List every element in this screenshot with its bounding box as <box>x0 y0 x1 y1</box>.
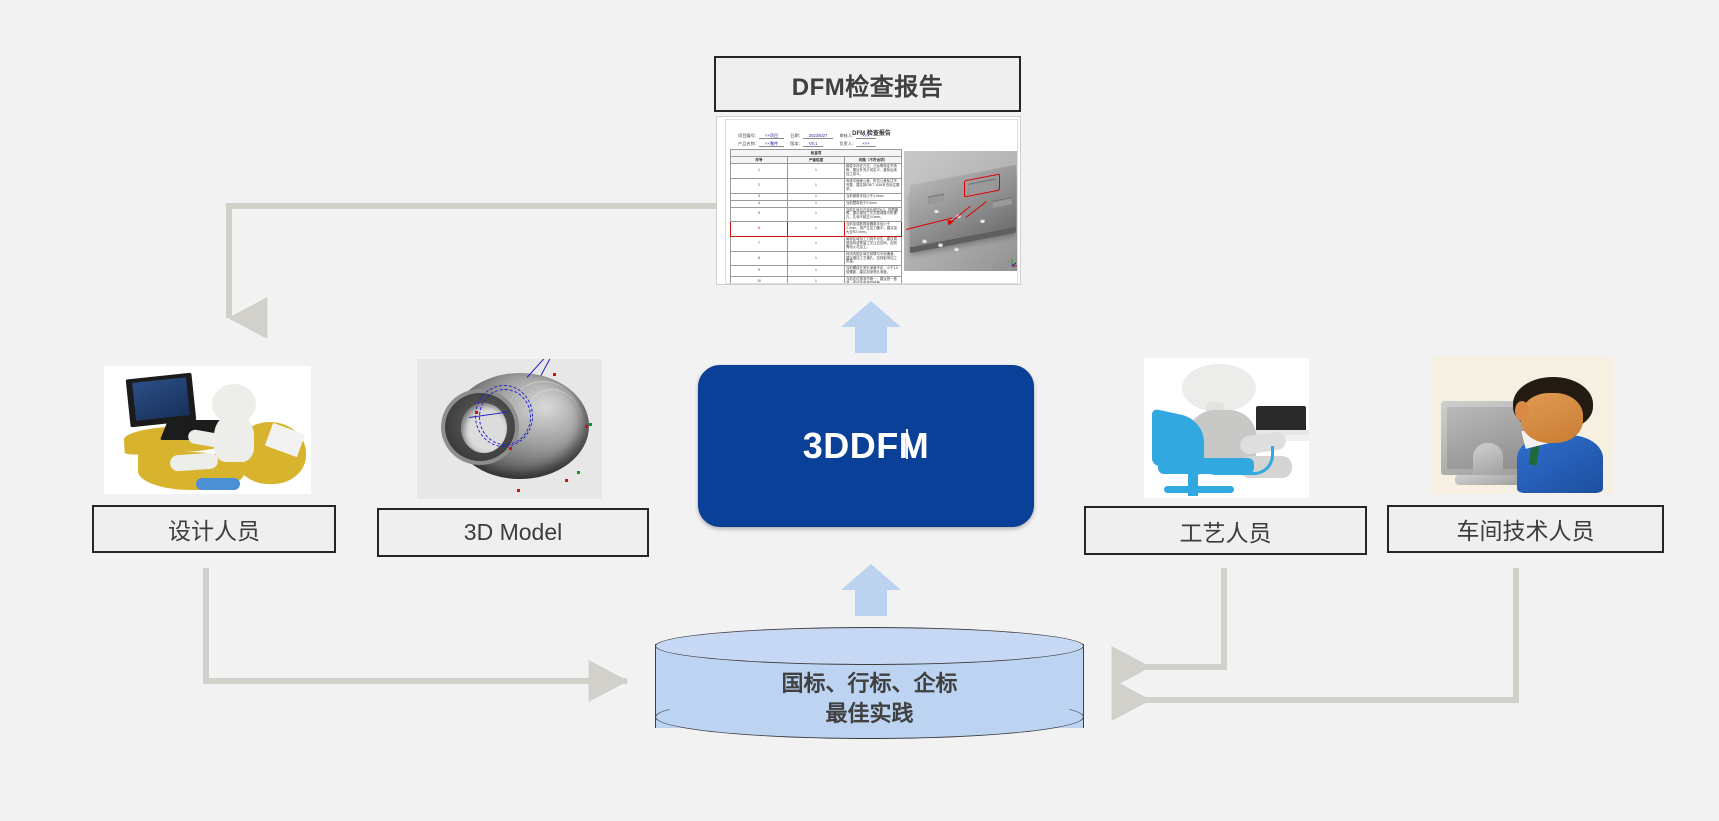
part-hole <box>934 209 939 213</box>
dfm-doc-meta: 项目编号：××项目 产品名称：××零件 日期：2023/5/27 版本：V0.1… <box>726 132 1017 147</box>
row-no: 1 <box>731 164 788 179</box>
table-row: 71局部区域加工刀具不可达，建议调整结构或预留工艺让位空间，否则需电火花加工。 <box>731 236 902 251</box>
connector-report-to-designer <box>229 206 716 318</box>
monitor-stand <box>1473 443 1503 479</box>
person-face <box>1521 393 1583 443</box>
row-text: 当前螺纹孔底孔深度不足，小于1.5倍螺距，建议加深底孔深度。 <box>845 266 902 277</box>
meta-value-0: ××项目 <box>759 133 784 139</box>
arrow-head-icon <box>841 301 901 327</box>
row-text: 封闭内腔区域无排屑与冷却通道，建议增加工艺通孔，否则影响加工质量。 <box>845 251 902 266</box>
cad-model-housing-photo <box>417 359 602 499</box>
monitor-screen <box>132 377 190 420</box>
label-process-engineer-text: 工艺人员 <box>1180 514 1272 548</box>
center-3ddfm-label: 3DDFM <box>803 425 930 467</box>
dimension-arc <box>479 389 531 445</box>
standards-database-cylinder[interactable]: 国标、行标、企标 最佳实践 <box>655 627 1084 745</box>
vertex-marker <box>517 489 520 492</box>
meta-value-3: V0.1 <box>803 141 824 147</box>
label-box-3d-model[interactable]: 3D Model <box>377 508 649 557</box>
meta-label-5: 负责人： <box>839 141 856 146</box>
meta-value-5: ××× <box>856 141 875 147</box>
row-severity: 1 <box>788 222 845 237</box>
row-text: 壳体平面度公差、形位公差标注不完整，建议按GB/T 1184补充标注要求。 <box>845 178 902 193</box>
dimension-leader <box>541 359 554 376</box>
dfm-issue-table: 检查项 序号 严重程度 问题（不符合项） 11模型中存在孔位、凸台等特征不清晰，… <box>730 149 902 284</box>
vertex-marker <box>565 479 568 482</box>
row-no: 10 <box>731 277 788 284</box>
label-box-designer[interactable]: 设计人员 <box>92 505 336 553</box>
axis-triad-icon <box>1009 256 1018 268</box>
vertex-marker <box>509 447 512 450</box>
blue-arrow-database-to-center <box>841 564 901 616</box>
part-hole <box>938 243 943 247</box>
chair-armrest <box>1196 446 1274 475</box>
meta-label-4: 审核人： <box>839 133 856 138</box>
row-no: 9 <box>731 266 788 277</box>
dfm-doc-body: 检查项 序号 严重程度 问题（不符合项） 11模型中存在孔位、凸台等特征不清晰，… <box>726 149 1017 284</box>
row-severity: 1 <box>788 193 845 200</box>
center-3ddfm-box[interactable]: 3DDFM <box>698 365 1034 527</box>
row-text: 当前定位基准不唯一，建议统一基准，保证装夹重复精度。 <box>845 277 902 284</box>
row-severity: 1 <box>788 200 845 207</box>
row-severity: 1 <box>788 178 845 193</box>
row-severity: 1 <box>788 266 845 277</box>
dfm-section-header: 检查项 <box>731 150 902 157</box>
row-severity: 1 <box>788 164 845 179</box>
part-hole <box>980 219 985 223</box>
arrow-head-icon <box>841 564 901 590</box>
row-no: 6 <box>731 222 788 237</box>
row-text: 当前壁厚低于2.0mm <box>845 200 902 207</box>
process-engineer-at-desk-photo <box>1144 358 1309 498</box>
table-header-row: 检查项 <box>731 150 902 157</box>
cylinder-label-line2: 最佳实践 <box>655 699 1084 729</box>
label-designer-text: 设计人员 <box>168 512 260 546</box>
col-text: 问题（不符合项） <box>845 157 902 164</box>
table-row: 101当前定位基准不唯一，建议统一基准，保证装夹重复精度。 <box>731 277 902 284</box>
cad-part-isometric-view <box>904 151 1018 271</box>
table-column-row: 序号 严重程度 问题（不符合项） <box>731 157 902 164</box>
row-text: 当前倒角半径小于1.0mm <box>845 193 902 200</box>
row-text: 局部区域加工刀具不可达，建议调整结构或预留工艺让位空间，否则需电火花加工。 <box>845 236 902 251</box>
label-workshop-technician-text: 车间技术人员 <box>1457 512 1595 546</box>
table-row: 21壳体平面度公差、形位公差标注不完整，建议按GB/T 1184补充标注要求。 <box>731 178 902 193</box>
figure-leg <box>170 452 219 471</box>
label-box-process-engineer[interactable]: 工艺人员 <box>1084 506 1367 555</box>
table-row: 91当前螺纹孔底孔深度不足，小于1.5倍螺距，建议加深底孔深度。 <box>731 266 902 277</box>
designer-at-desk-photo <box>104 366 311 494</box>
vertex-marker <box>577 471 580 474</box>
dfm-report-title-box[interactable]: DFM检查报告 <box>714 56 1021 112</box>
meta-label-1: 产品名称： <box>738 141 759 146</box>
col-severity: 严重程度 <box>788 157 845 164</box>
part-hole <box>922 239 927 243</box>
connector-process-to-database <box>1115 568 1224 667</box>
row-no: 8 <box>731 251 788 266</box>
cylinder-label-line1: 国标、行标、企标 <box>655 669 1084 699</box>
figure-base-shadow <box>196 478 240 490</box>
person-ear <box>1515 401 1529 421</box>
dfm-doc-header: DFM 检查报告 <box>726 120 1017 132</box>
cylinder-top-ellipse <box>655 627 1084 665</box>
meta-label-3: 版本： <box>790 141 803 146</box>
row-text: 当前加强筋根部圆角半径小于2.0mm，易产生应力集中，建议加大至R2.0mm。 <box>845 222 902 237</box>
row-text: 当前孔深与孔径比超过6.0，排屑困难，建议增加工艺孔或调整为阶梯孔，孔深不超过4… <box>845 207 902 222</box>
table-row: 41当前壁厚低于2.0mm <box>731 200 902 207</box>
col-no: 序号 <box>731 157 788 164</box>
arrow-tail <box>855 590 887 616</box>
row-severity: 1 <box>788 277 845 284</box>
blue-arrow-center-to-report <box>841 301 901 353</box>
table-row: 11模型中存在孔位、凸台等特征不清晰，建议补充几何定义，避免后续加工歧义。 <box>731 164 902 179</box>
label-3d-model-text: 3D Model <box>464 519 562 546</box>
dfm-report-thumbnail[interactable]: DFM 检查报告 项目编号：××项目 产品名称：××零件 日期：2023/5/2… <box>716 116 1021 285</box>
part-hole <box>954 247 959 251</box>
center-3ddfm-text: 3DDFM <box>803 425 930 466</box>
laptop-screen <box>1256 406 1306 432</box>
connector-designer-to-database <box>206 568 627 681</box>
meta-label-2: 日期： <box>790 133 803 138</box>
diagram-canvas: DFM检查报告 DFM 检查报告 项目编号：××项目 产品名称：××零件 日期：… <box>0 0 1719 821</box>
workshop-technician-photo <box>1431 357 1613 494</box>
connector-tech-to-database <box>1115 568 1516 700</box>
row-no: 7 <box>731 236 788 251</box>
row-no: 3 <box>731 193 788 200</box>
meta-value-2: 2023/5/27 <box>803 133 834 139</box>
vertex-marker <box>585 425 588 428</box>
row-no: 4 <box>731 200 788 207</box>
meta-label-0: 项目编号： <box>738 133 759 138</box>
vertex-marker <box>475 411 478 414</box>
dfm-report-document: DFM 检查报告 项目编号：××项目 产品名称：××零件 日期：2023/5/2… <box>725 119 1018 284</box>
meta-value-4: ××× <box>856 133 875 139</box>
table-row: 51当前孔深与孔径比超过6.0，排屑困难，建议增加工艺孔或调整为阶梯孔，孔深不超… <box>731 207 902 222</box>
table-row: 31当前倒角半径小于1.0mm <box>731 193 902 200</box>
meta-value-1: ××零件 <box>759 141 784 147</box>
dfm-report-title-label: DFM检查报告 <box>792 67 943 102</box>
cylinder-label: 国标、行标、企标 最佳实践 <box>655 669 1084 728</box>
row-no: 5 <box>731 207 788 222</box>
vertex-marker <box>553 373 556 376</box>
row-text: 模型中存在孔位、凸台等特征不清晰，建议补充几何定义，避免后续加工歧义。 <box>845 164 902 179</box>
table-row: 81封闭内腔区域无排屑与冷却通道，建议增加工艺通孔，否则影响加工质量。 <box>731 251 902 266</box>
arrow-tail <box>855 327 887 353</box>
row-severity: 1 <box>788 207 845 222</box>
dfm-table-wrapper: 检查项 序号 严重程度 问题（不符合项） 11模型中存在孔位、凸台等特征不清晰，… <box>726 149 902 284</box>
row-severity: 1 <box>788 236 845 251</box>
vertex-marker <box>589 423 592 426</box>
text-cursor-icon <box>906 429 908 459</box>
row-no: 2 <box>731 178 788 193</box>
label-box-workshop-technician[interactable]: 车间技术人员 <box>1387 505 1664 553</box>
chair-base <box>1164 486 1234 493</box>
row-severity: 1 <box>788 251 845 266</box>
table-row-highlighted: 61当前加强筋根部圆角半径小于2.0mm，易产生应力集中，建议加大至R2.0mm… <box>731 222 902 237</box>
